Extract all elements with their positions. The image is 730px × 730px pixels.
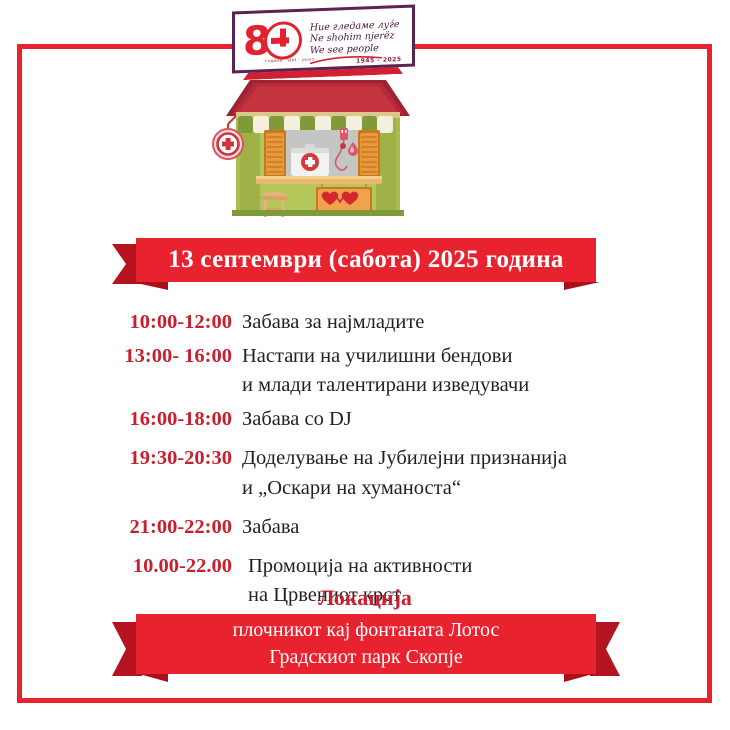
red-cross-icon — [264, 21, 302, 60]
date-banner: 13 септември (сабота) 2025 година — [112, 238, 620, 290]
schedule-desc-line: Настапи на училишни бендови — [242, 345, 512, 367]
schedule-row: 19:30-20:30 Доделување на Јубилејни приз… — [100, 444, 660, 502]
window-shutter-left — [264, 130, 286, 178]
schedule-time: 21:00-22:00 — [100, 513, 242, 542]
schedule-list: 10:00-12:00 Забава за најмладите 13:00- … — [100, 308, 660, 615]
schedule-description: Забава за најмладите — [242, 308, 660, 337]
location-heading: Локација — [0, 585, 730, 611]
logo-80-group: 8 години · vjet · years — [243, 21, 302, 61]
schedule-row: 13:00- 16:00 Настапи на училишни бендови… — [100, 342, 660, 400]
location-line: плочникот кај фонтаната Лотос — [233, 617, 500, 644]
logo-years-label: години · vjet · years — [265, 56, 315, 63]
schedule-desc-line: Забава — [242, 516, 299, 538]
first-aid-kit-icon — [291, 144, 329, 176]
schedule-desc-line: и млади талентирани изведувачи — [242, 371, 660, 400]
logo-slogan-group: Ние гледаме луѓе Ne shohim njerëz We see… — [310, 19, 400, 57]
anniversary-logo-sign: 8 години · vjet · years Ние гледаме луѓе… — [232, 4, 415, 73]
schedule-row: 21:00-22:00 Забава — [100, 513, 660, 542]
schedule-desc-line: и „Оскари на хуманоста“ — [242, 474, 660, 503]
schedule-desc-line: Забава за најмладите — [242, 311, 424, 333]
schedule-time: 10.00-22.00 — [100, 552, 242, 581]
red-cross-kiosk-illustration — [198, 72, 438, 220]
location-line: Градскиот парк Скопје — [269, 644, 463, 671]
schedule-time: 16:00-18:00 — [100, 405, 242, 434]
schedule-time: 13:00- 16:00 — [100, 342, 242, 371]
schedule-desc-line: Промоција на активности — [248, 555, 472, 577]
schedule-description: Доделување на Јубилејни признанија и „Ос… — [242, 444, 660, 502]
schedule-time: 10:00-12:00 — [100, 308, 242, 337]
schedule-description: Забава со DJ — [242, 405, 660, 434]
schedule-time: 19:30-20:30 — [100, 444, 242, 473]
schedule-description: Настапи на училишни бендови и млади тале… — [242, 342, 660, 400]
schedule-desc-line: Доделување на Јубилејни признанија — [242, 447, 567, 469]
date-banner-text: 13 септември (сабота) 2025 година — [112, 238, 620, 282]
schedule-row: 16:00-18:00 Забава со DJ — [100, 405, 660, 434]
schedule-desc-line: Забава со DJ — [242, 408, 352, 430]
window-shutter-right — [358, 130, 380, 178]
schedule-description: Забава — [242, 513, 660, 542]
schedule-row: 10:00-12:00 Забава за најмладите — [100, 308, 660, 337]
hearts-sign — [316, 184, 372, 213]
location-banner: плочникот кај фонтаната Лотос Градскиот … — [112, 614, 620, 682]
location-banner-text: плочникот кај фонтаната Лотос Градскиот … — [112, 614, 620, 674]
